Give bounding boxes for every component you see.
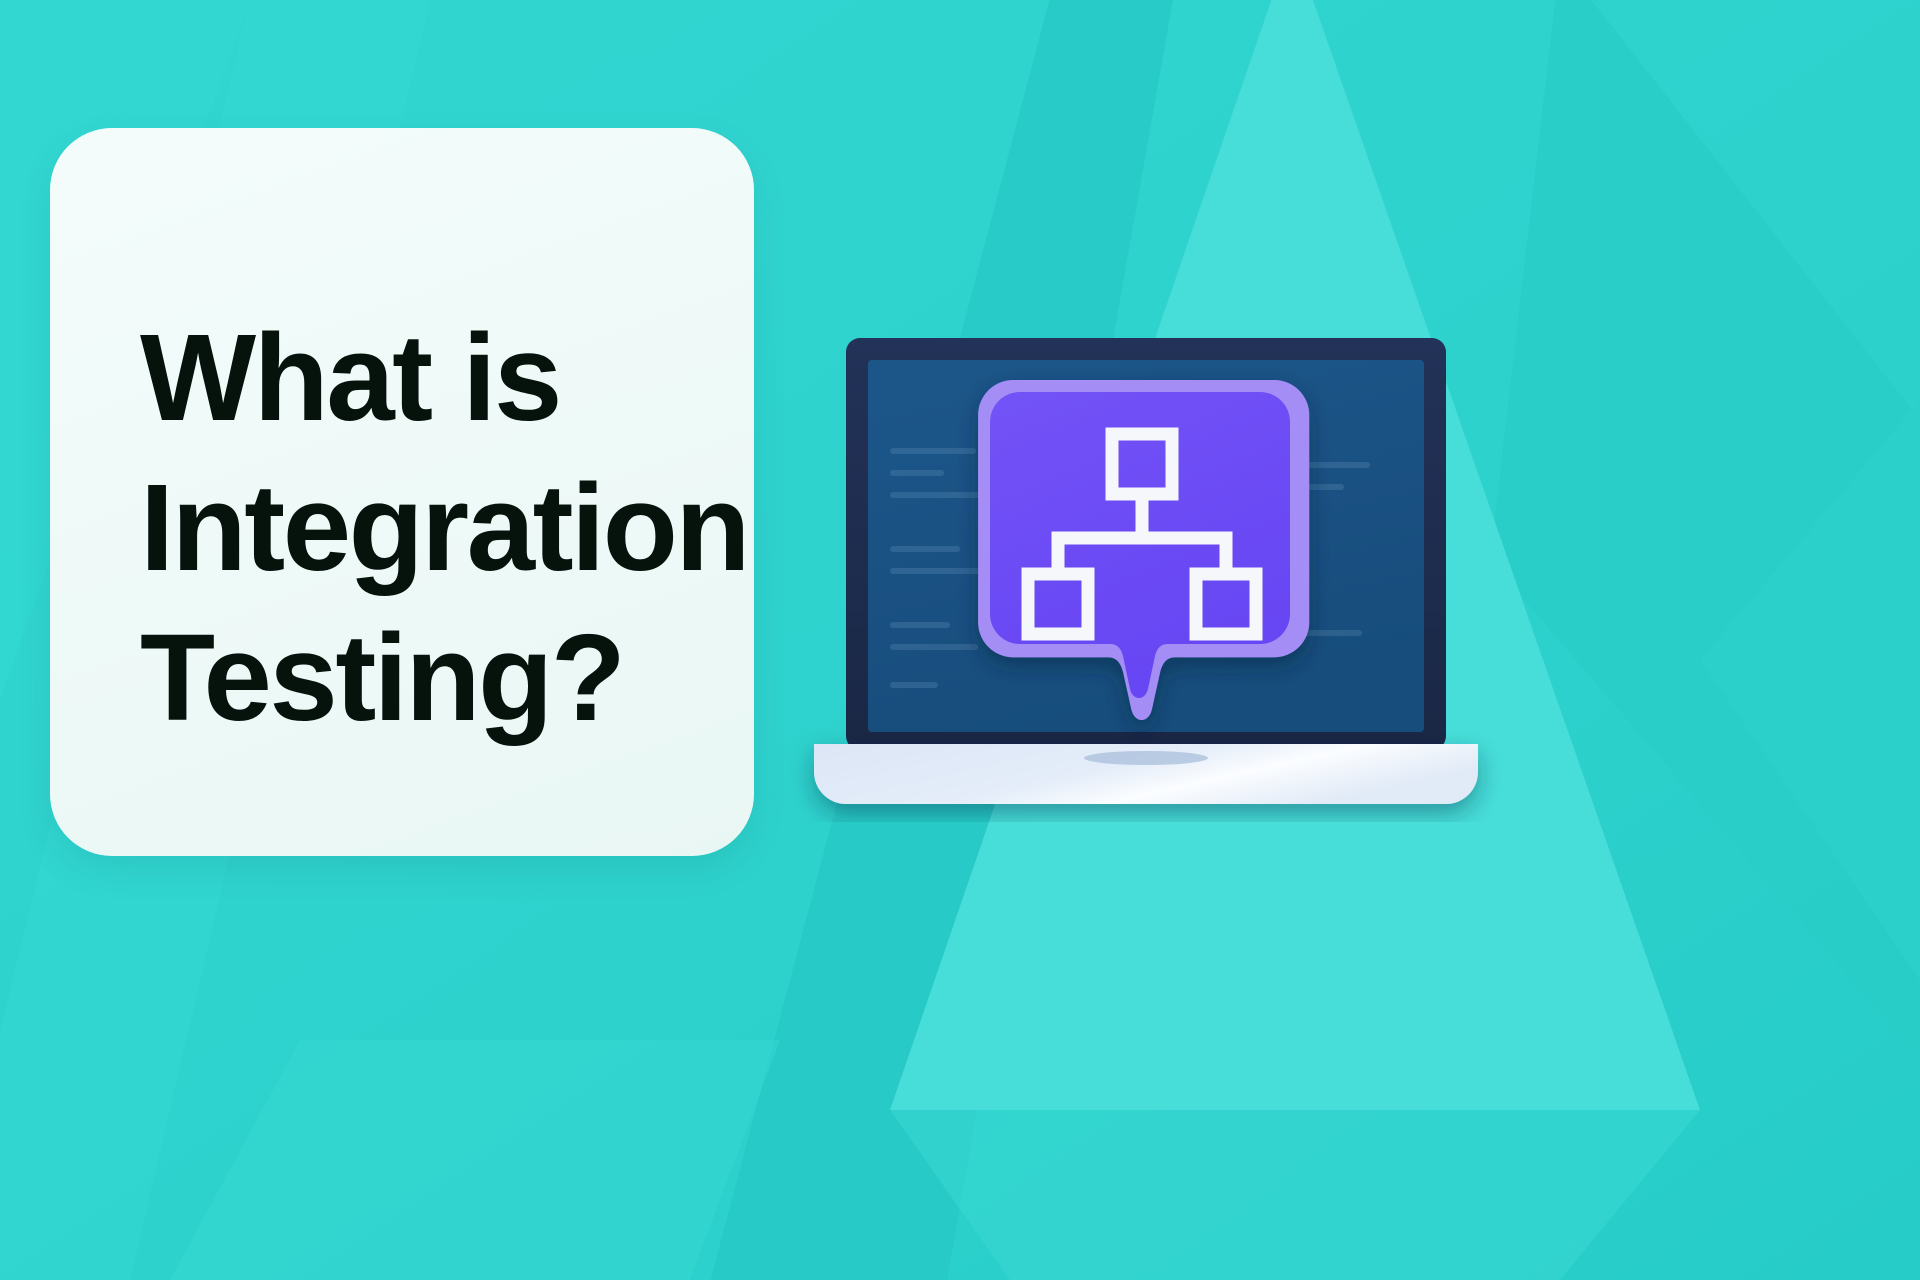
bg-band-bottom	[890, 1110, 1700, 1280]
poster-canvas: What is Integration Testing?	[0, 0, 1920, 1280]
title-card: What is Integration Testing?	[50, 128, 754, 856]
page-title: What is Integration Testing?	[140, 304, 754, 754]
laptop-base-notch	[1084, 751, 1208, 765]
laptop-illustration	[806, 330, 1486, 816]
laptop-base	[814, 744, 1478, 804]
